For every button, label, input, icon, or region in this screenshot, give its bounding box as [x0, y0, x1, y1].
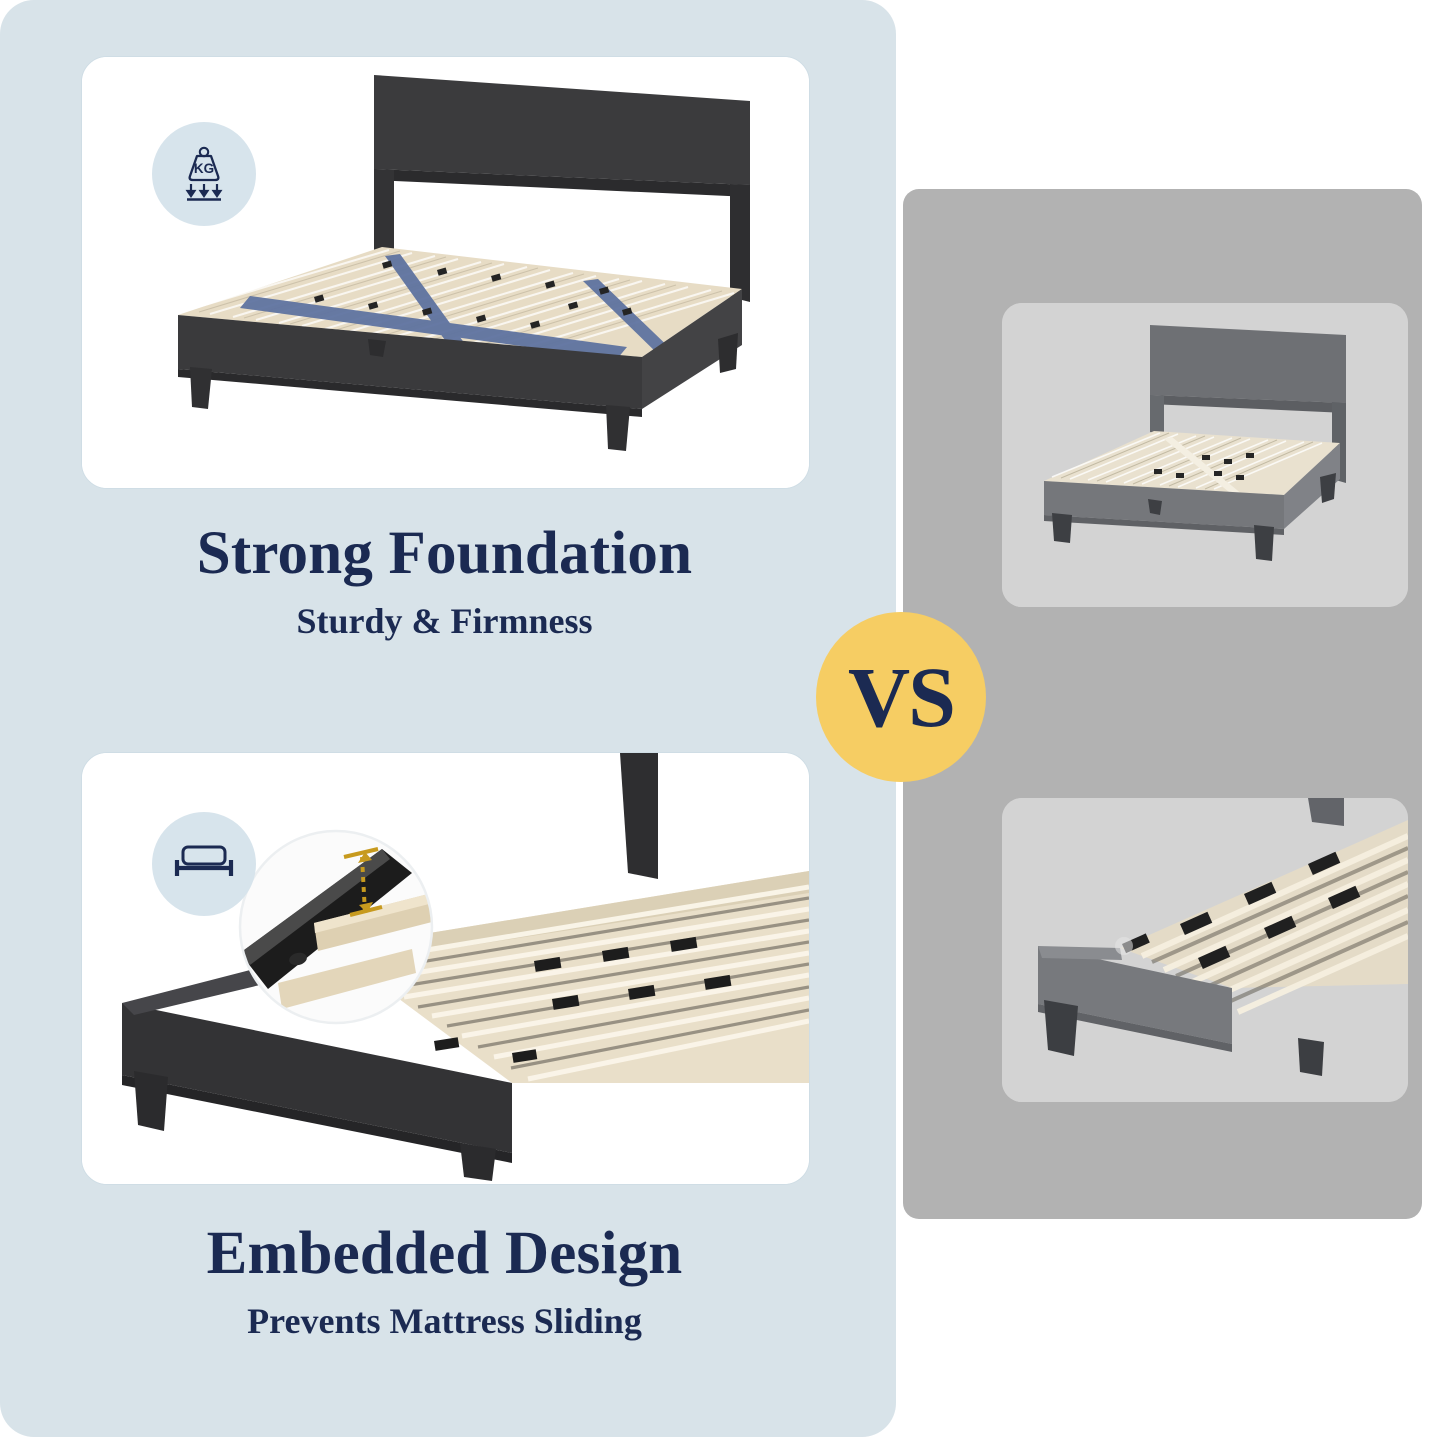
- bed-frame-illustration-full: [82, 57, 809, 488]
- bed-mattress-glyph: [171, 839, 237, 889]
- bed-mattress-icon: [152, 812, 256, 916]
- vs-label: VS: [848, 654, 954, 740]
- competitor-bed-illustration-closeup: [1002, 798, 1408, 1102]
- subline-prevents-mattress-sliding: Prevents Mattress Sliding: [81, 1299, 808, 1344]
- kg-label: KG: [194, 161, 214, 176]
- competitor-bed-illustration-full: [1002, 303, 1408, 607]
- infographic-stage: KG Strong Foundation Sturdy & Firmness: [0, 0, 1445, 1445]
- caption-strong-foundation: Strong Foundation Sturdy & Firmness: [81, 522, 808, 644]
- subline-sturdy-firmness: Sturdy & Firmness: [81, 599, 808, 644]
- headline-strong-foundation: Strong Foundation: [81, 522, 808, 585]
- headline-embedded-design: Embedded Design: [81, 1222, 808, 1285]
- vs-badge: VS: [816, 612, 986, 782]
- kg-weight-glyph: KG: [173, 143, 235, 205]
- competitor-photo-card-bottom: [1002, 798, 1408, 1102]
- competitor-photo-card-top: [1002, 303, 1408, 607]
- caption-embedded-design: Embedded Design Prevents Mattress Slidin…: [81, 1222, 808, 1344]
- kg-weight-icon: KG: [152, 122, 256, 226]
- product-photo-card-strong-foundation: [81, 56, 810, 489]
